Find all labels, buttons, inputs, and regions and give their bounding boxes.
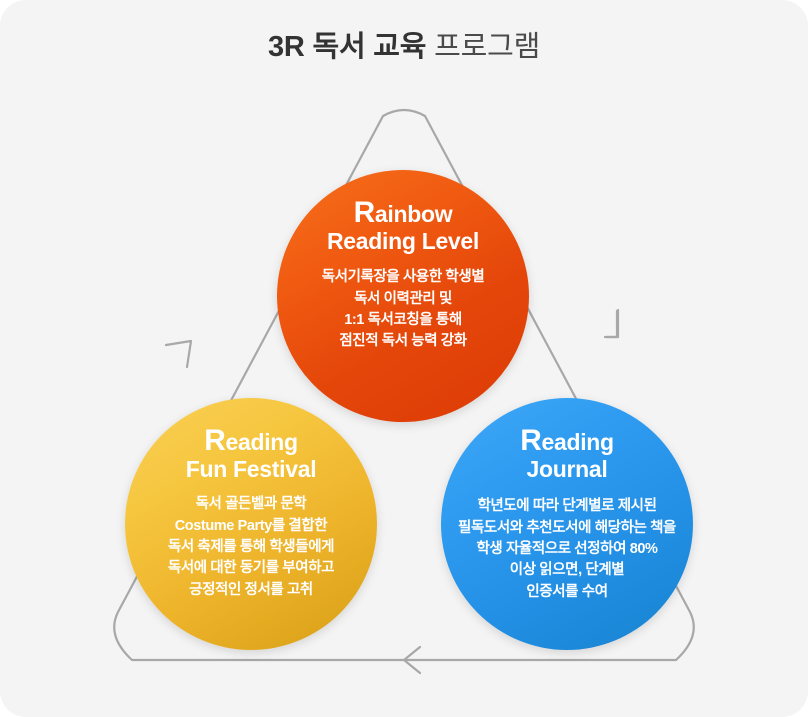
node-reading-fun-festival[interactable]: Reading Fun Festival 독서 골든벨과 문학 Costume … [125,398,377,650]
node-festival-body-line-2: Costume Party를 결합한 [168,516,334,537]
node-festival-body-line-3: 독서 축제를 통해 학생들에게 [168,537,334,558]
node-journal-body-line-2: 필독도서와 추천도서에 해당하는 책을 [458,518,676,539]
node-rainbow-body-line-2: 독서 이력관리 및 [322,289,485,310]
node-journal-title-rest: eading [541,429,613,455]
node-rainbow-body-line-4: 점진적 독서 능력 강화 [322,331,485,352]
node-festival-title: Reading Fun Festival [186,426,317,482]
node-festival-body-line-5: 긍정적인 정서를 고취 [168,580,334,601]
node-rainbow-title-cap: R [354,196,375,229]
node-journal-body-line-1: 학년도에 따라 단계별로 제시된 [458,496,676,517]
node-reading-journal[interactable]: Reading Journal 학년도에 따라 단계별로 제시된 필독도서와 추… [441,398,693,650]
node-festival-title-cap: R [204,424,225,457]
node-journal-body-line-3: 학생 자율적으로 선정하여 80% [458,539,676,560]
node-rainbow-body-line-3: 1:1 독서코칭을 통해 [322,310,485,331]
node-journal-title-cap: R [520,424,541,457]
node-rainbow-body: 독서기록장을 사용한 학생별 독서 이력관리 및 1:1 독서코칭을 통해 점진… [322,267,485,353]
node-festival-title-rest: eading [225,429,297,455]
node-festival-body-line-4: 독서에 대한 동기를 부여하고 [168,558,334,579]
node-festival-title-line2: Fun Festival [186,456,317,482]
node-rainbow-title-rest: ainbow [375,201,452,227]
node-rainbow-title-line2: Reading Level [327,228,479,254]
node-festival-body-line-1: 독서 골든벨과 문학 [168,494,334,515]
node-journal-title: Reading Journal [520,426,614,482]
arrow-right-edge-icon [607,311,633,337]
node-journal-title-line2: Journal [520,456,614,482]
node-festival-body: 독서 골든벨과 문학 Costume Party를 결합한 독서 축제를 통해 … [168,494,334,601]
node-journal-body-line-4: 이상 읽으면, 단계별 [458,560,676,581]
node-rainbow-title: Rainbow Reading Level [327,198,479,254]
node-rainbow-reading-level[interactable]: Rainbow Reading Level 독서기록장을 사용한 학생별 독서 … [277,170,529,422]
arrow-left-edge-icon [166,341,191,367]
node-journal-body-line-5: 인증서를 수여 [458,582,676,603]
node-rainbow-body-line-1: 독서기록장을 사용한 학생별 [322,267,485,288]
node-journal-body: 학년도에 따라 단계별로 제시된 필독도서와 추천도서에 해당하는 책을 학생 … [458,496,676,603]
infographic-canvas: 3R 독서 교육 프로그램 Rainbow Reading Level 독서기록… [0,0,808,717]
